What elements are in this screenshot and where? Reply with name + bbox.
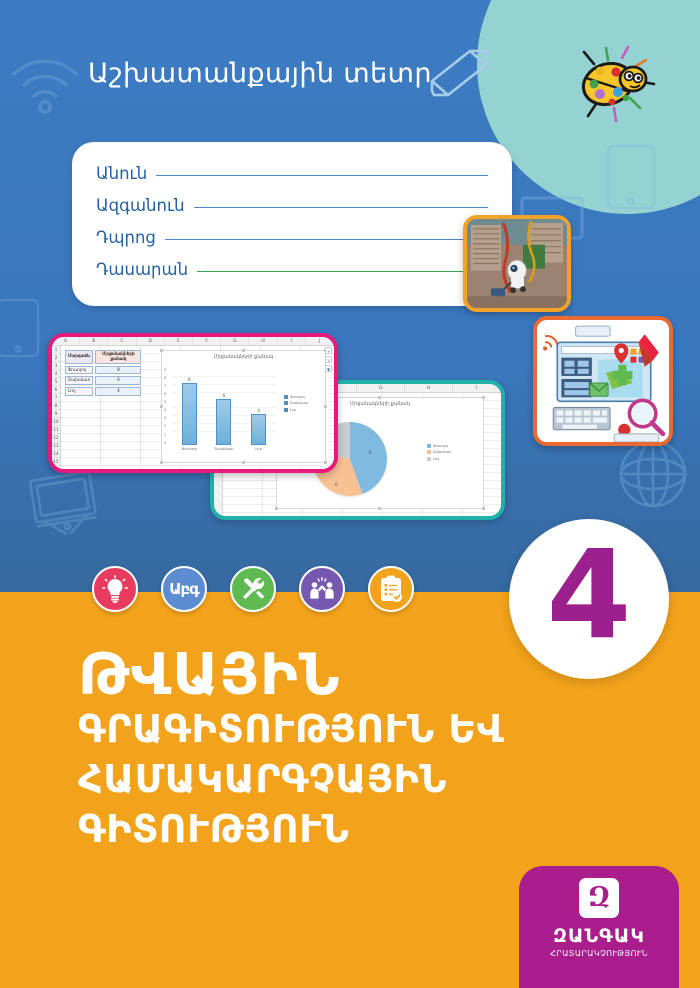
spreadsheet-bar-panel: A B C D E F G H I J 1 2 3 4 5 6 7 8 9 [48,333,338,473]
y-tick: 0 [164,442,166,445]
table-row: Մարզաձև Մրցանակների քանակ [65,350,141,364]
row-header[interactable]: 3 [52,362,60,370]
publisher-block: Զ ԶԱՆԳԱԿ ՀՐԱՏԱՐԱԿՉՈՒԹՅՈՒՆ [519,866,679,988]
table-cell[interactable]: 4 [95,387,141,396]
publisher-logo-icon: Զ [579,878,619,918]
y-tick: 4 [164,409,166,412]
y-tick: 3 [164,417,166,420]
legend-label: Լող [290,408,296,412]
y-tick: 5 [164,401,166,404]
computer-hardware-photo [463,215,571,312]
field-name-label: Անուն [96,164,147,183]
y-tick: 9 [164,369,166,372]
col-header[interactable]: D [137,337,165,345]
ladybug-mascot [566,42,656,132]
book-title-line-2: ԳՐԱԳԻՏՈՒԹՅՈՒՆ ԵՎ [78,704,548,754]
row-header[interactable]: 11 [52,426,60,434]
bar-group: 4 [245,408,272,445]
x-tick: Լող [245,447,272,451]
pie-chart-legend: Ֆուտբոլ Շախմատ Լող [427,444,451,463]
x-tick: Շախմատ [210,447,237,451]
bar-chart-title: Մրցանակների քանակ [162,354,325,360]
col-header[interactable]: A [52,337,80,345]
bar-group: 6 [210,393,237,445]
field-surname[interactable]: Ազգանուն [96,196,488,215]
publisher-logo-letter: Զ [588,884,610,911]
field-class-label: Դասարան [96,260,188,279]
bar[interactable] [182,383,197,445]
chart-filter-button[interactable]: ▼ [325,365,332,372]
row-header[interactable]: 5 [52,378,60,386]
row-header[interactable]: 13 [52,442,60,450]
table-row: Լող 4 [65,387,141,396]
x-tick: Ֆուտբոլ [176,447,203,451]
bar-value-label: 4 [257,408,260,413]
legend-label: Շախմատ [433,450,451,454]
page-title: Աշխատանքային տետր [88,58,432,89]
armenian-letters-label: Աբգ [169,580,198,598]
y-tick: 2 [164,425,166,428]
table-row: Շախմատ 6 [65,376,141,385]
spreadsheet-row-headers: 1 2 3 4 5 6 7 8 9 10 11 12 13 14 15 [52,346,61,469]
chart-add-element-button[interactable]: + [325,347,332,354]
bar-group: 8 [176,377,203,445]
resize-handle[interactable] [324,405,327,408]
chart-styles-button[interactable]: ✎ [325,356,332,363]
book-title-line-3: ՀԱՄԱԿԱՐԳՉԱՅԻՆ [78,754,548,804]
table-header-cell[interactable]: Մրցանակների քանակ [95,350,141,364]
bar-chart-plot: 8 6 4 [172,369,276,445]
field-name-line[interactable] [156,175,488,176]
pie-slice-label: 6 [335,482,338,487]
field-school-label: Դպրոց [96,228,156,247]
row-header[interactable]: 2 [52,354,60,362]
laptop-icon [23,467,104,543]
resize-handle[interactable] [482,507,485,510]
legend-item: Լող [284,408,308,412]
table-cell[interactable]: Ֆուտբոլ [65,366,93,375]
student-info-card: Անուն Ազգանուն Դպրոց Դասարան [72,142,512,306]
legend-label: Ֆուտբոլ [433,444,448,448]
bar-chart-y-axis: 0 1 2 3 4 5 6 7 8 9 [164,369,166,445]
row-header[interactable]: 10 [52,418,60,426]
col-header[interactable]: F [193,337,221,345]
armenian-letters-icon[interactable]: Աբգ [161,566,207,612]
row-header[interactable]: 4 [52,370,60,378]
field-school-line[interactable] [165,239,488,240]
table-row: Ֆուտբոլ 8 [65,366,141,375]
table-cell[interactable]: Լող [65,387,93,396]
y-tick: 8 [164,377,166,380]
eraser-icon [424,46,494,104]
resize-handle[interactable] [275,507,278,510]
bar[interactable] [216,399,231,445]
field-class-line[interactable] [197,271,488,272]
book-cover: Աշխատանքային տետր [0,0,700,988]
spreadsheet-data-table[interactable]: Մարզաձև Մրցանակների քանակ Ֆուտբոլ 8 Շախմ… [63,348,143,398]
pie-slice-label: 8 [369,450,372,455]
resize-handle[interactable] [378,507,381,510]
row-header[interactable]: 15 [52,458,60,466]
col-header[interactable]: I [453,384,501,392]
resize-handle[interactable] [242,461,245,464]
bar[interactable] [251,414,266,445]
bar-value-label: 8 [188,377,191,382]
grade-number: 4 [547,534,632,656]
row-header[interactable]: 9 [52,410,60,418]
y-tick: 7 [164,385,166,388]
lightbulb-icon[interactable] [92,566,138,612]
col-header[interactable]: C [108,337,136,345]
wifi-icon [10,52,82,114]
col-header[interactable]: B [80,337,108,345]
bar-chart[interactable]: Մրցանակների քանակ 0 1 2 3 4 5 6 7 8 9 [161,350,326,463]
resize-handle[interactable] [482,396,485,399]
table-cell[interactable]: 6 [95,376,141,385]
resize-handle[interactable] [160,461,163,464]
col-header[interactable]: I [278,337,306,345]
resize-handle[interactable] [378,396,381,399]
field-surname-line[interactable] [194,207,488,208]
row-header[interactable]: 14 [52,450,60,458]
legend-item: Շախմատ [427,450,451,454]
legend-label: Ֆուտբոլ [290,395,305,399]
teamwork-icon[interactable] [299,566,345,612]
bar-chart-legend: Ֆուտբոլ Շախմատ Լող [284,395,308,414]
field-surname-label: Ազգանուն [96,196,185,215]
publisher-subtitle: ՀՐԱՏԱՐԱԿՉՈՒԹՅՈՒՆ [550,949,648,958]
tablet-icon [604,142,658,212]
table-cell[interactable]: 8 [95,366,141,375]
col-header[interactable]: G [221,337,249,345]
publisher-name: ԶԱՆԳԱԿ [553,925,645,947]
legend-item: Ֆուտբոլ [427,444,451,448]
field-class[interactable]: Դասարան [96,260,488,279]
row-header[interactable]: 8 [52,402,60,410]
row-header[interactable]: 6 [52,386,60,394]
spreadsheet-column-headers: A B C D E F G H I J [52,337,334,346]
col-header[interactable]: H [249,337,277,345]
resize-handle[interactable] [242,349,245,352]
chart-side-toolbar[interactable]: + ✎ ▼ [325,347,332,374]
row-header[interactable]: 1 [52,346,60,354]
skills-icon-row: Աբգ [92,566,414,612]
col-header[interactable]: G [357,384,405,392]
y-tick: 6 [164,393,166,396]
row-header[interactable]: 12 [52,434,60,442]
y-tick: 1 [164,434,166,437]
field-name[interactable]: Անուն [96,164,488,183]
table-cell[interactable]: Շախմատ [65,376,93,385]
bar-chart-x-axis: Ֆուտբոլ Շախմատ Լող [172,447,276,451]
legend-item: Ֆուտբոլ [284,395,308,399]
col-header[interactable]: H [405,384,453,392]
checklist-icon[interactable] [368,566,414,612]
tools-icon[interactable] [230,566,276,612]
row-header[interactable]: 7 [52,394,60,402]
resize-handle[interactable] [160,349,163,352]
col-header[interactable]: E [165,337,193,345]
resize-handle[interactable] [160,405,163,408]
book-title: ԹՎԱՅԻՆ ԳՐԱԳԻՏՈՒԹՅՈՒՆ ԵՎ ՀԱՄԱԿԱՐԳՉԱՅԻՆ ԳԻ… [78,648,548,854]
resize-handle[interactable] [324,461,327,464]
legend-label: Լող [433,457,439,461]
tablet-icon [0,296,42,360]
bar-value-label: 6 [223,393,226,398]
col-header[interactable]: J [306,337,334,345]
table-header-cell[interactable]: Մարզաձև [65,350,93,364]
legend-item: Լող [427,457,451,461]
field-school[interactable]: Դպրոց [96,228,488,247]
book-title-line-1: ԹՎԱՅԻՆ [78,648,548,704]
internet-illustration-photo [533,316,673,446]
book-title-line-4: ԳԻՏՈՒԹՅՈՒՆ [78,804,548,854]
legend-item: Շախմատ [284,401,308,405]
globe-icon [617,438,689,510]
legend-label: Շախմատ [290,401,308,405]
